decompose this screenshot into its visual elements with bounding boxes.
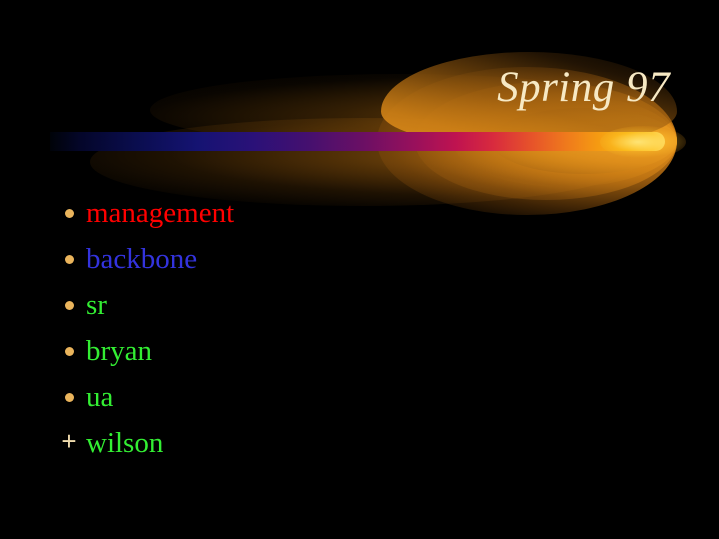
comet-core-bar: [50, 132, 665, 151]
list-item-label: management: [86, 197, 234, 229]
list-item-label: backbone: [86, 243, 197, 275]
bullet-dot-icon: [52, 388, 86, 406]
bullet-plus-icon: +: [52, 431, 86, 455]
bullet-dot-icon: [52, 296, 86, 314]
plus-glyph: +: [61, 431, 76, 451]
comet-tip-glow: [600, 126, 686, 158]
list-item-label: wilson: [86, 427, 163, 459]
bullet-dot-icon: [52, 342, 86, 360]
list-item-label: sr: [86, 289, 107, 321]
bullet-dot-icon: [52, 250, 86, 268]
bullet-dot-icon: [52, 204, 86, 222]
page-title: Spring 97: [330, 64, 670, 112]
comet-halo-band-inner: [491, 108, 677, 174]
list-item[interactable]: + wilson: [52, 420, 612, 466]
list-item-label: ua: [86, 381, 113, 413]
list-item[interactable]: backbone: [52, 236, 612, 282]
list-item[interactable]: management: [52, 190, 612, 236]
list-item[interactable]: ua: [52, 374, 612, 420]
list-item[interactable]: bryan: [52, 328, 612, 374]
list-item[interactable]: sr: [52, 282, 612, 328]
list-item-label: bryan: [86, 335, 152, 367]
bullet-list: management backbone sr bryan ua: [52, 190, 612, 466]
presentation-slide: Spring 97 management backbone sr bryan: [0, 0, 719, 539]
